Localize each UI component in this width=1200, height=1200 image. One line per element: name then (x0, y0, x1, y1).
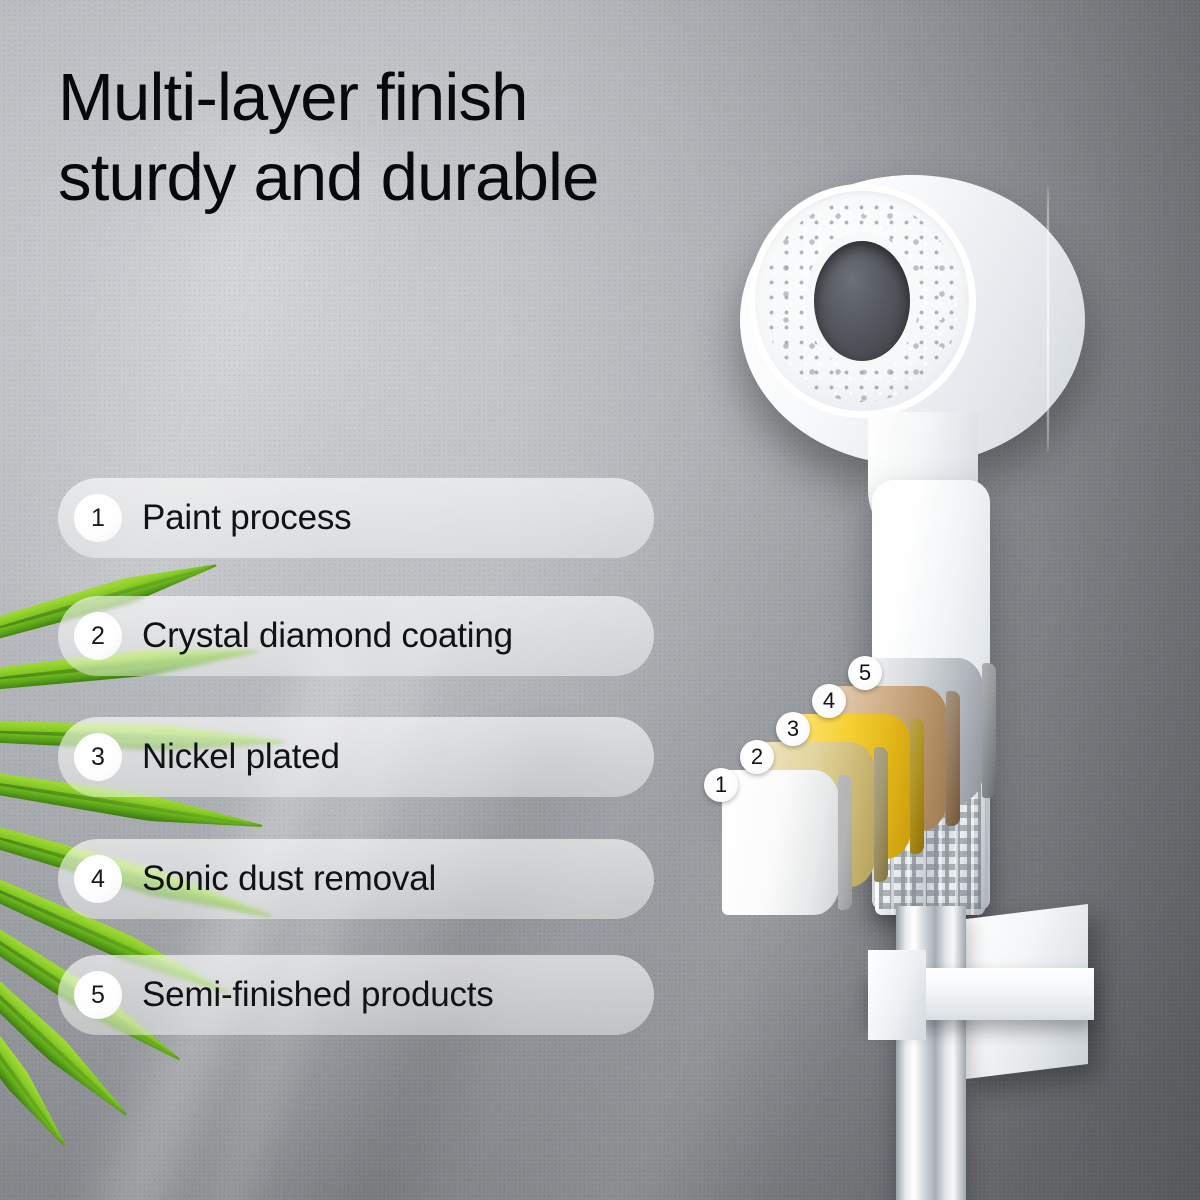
layer-edge (946, 691, 960, 826)
feature-item-2[interactable]: 2 Crystal diamond coating (58, 596, 654, 676)
feature-number-badge: 2 (74, 612, 122, 660)
feature-number-badge: 1 (74, 494, 122, 542)
feature-item-5[interactable]: 5 Semi-finished products (58, 955, 654, 1035)
product-feature-image: 5 4 3 2 1 Multi-layer finish sturdy and … (0, 0, 1200, 1200)
page-title: Multi-layer finish sturdy and durable (58, 58, 838, 219)
feature-label: Semi-finished products (142, 975, 494, 1015)
feature-number-badge: 3 (74, 733, 122, 781)
feature-label: Crystal diamond coating (142, 616, 513, 656)
dryer-head-seam (1047, 185, 1049, 453)
coating-layer-1 (722, 770, 840, 915)
dryer-head-face (748, 184, 976, 418)
feature-label: Nickel plated (142, 737, 340, 777)
feature-item-3[interactable]: 3 Nickel plated (58, 717, 654, 797)
feature-item-1[interactable]: 1 Paint process (58, 478, 654, 558)
feature-number-badge: 4 (74, 855, 122, 903)
dryer-air-outlet (814, 241, 910, 361)
layer-callout-4: 4 (812, 684, 846, 718)
layer-edge (982, 663, 996, 798)
layer-edge (874, 747, 888, 882)
layer-callout-5: 5 (848, 656, 882, 690)
feature-item-4[interactable]: 4 Sonic dust removal (58, 839, 654, 919)
coating-layer-diagram: 5 4 3 2 1 (700, 640, 1000, 910)
layer-callout-2: 2 (740, 740, 774, 774)
layer-callout-1: 1 (704, 768, 738, 802)
wall-mount-clip (868, 950, 926, 1040)
feature-label: Sonic dust removal (142, 859, 436, 899)
feature-number-badge: 5 (74, 971, 122, 1019)
layer-edge (838, 775, 852, 910)
layer-callout-3: 3 (776, 712, 810, 746)
feature-label: Paint process (142, 498, 351, 538)
layer-edge (910, 719, 924, 854)
